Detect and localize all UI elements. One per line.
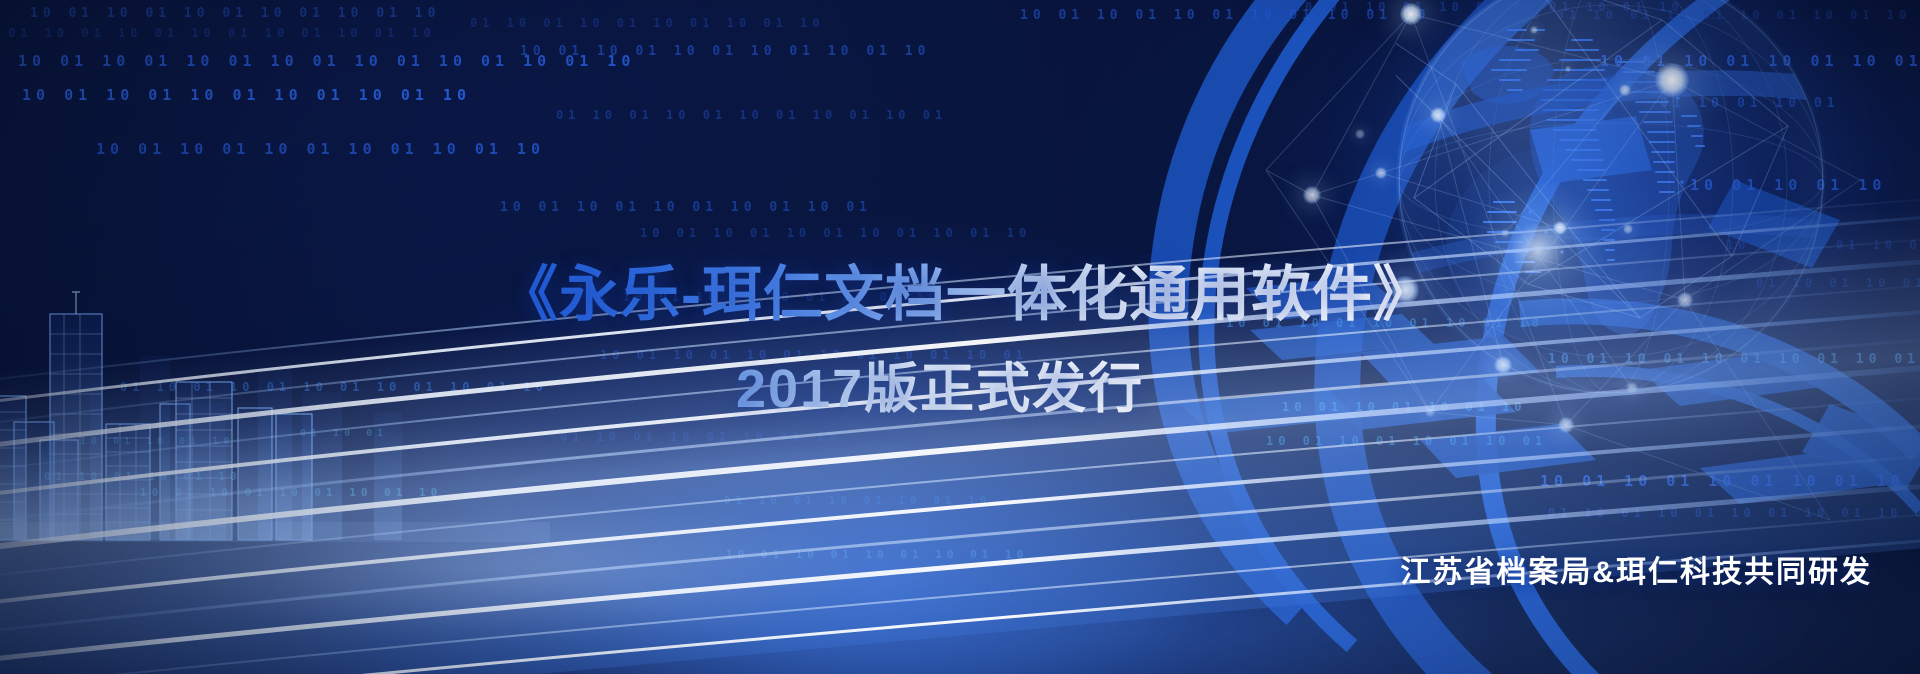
- page-title: 《永乐-珥仁文档一体化通用软件》: [498, 246, 1434, 333]
- page-subtitle: 2017版正式发行: [736, 344, 1144, 423]
- promo-banner: 10 01 10 01 10 01 10 01 10 01 1001 10 01…: [0, 0, 1920, 674]
- headline-group: 《永乐-珥仁文档一体化通用软件》 2017版正式发行 江苏省档案局&珥仁科技共同…: [0, 0, 1920, 674]
- credit-line: 江苏省档案局&珥仁科技共同研发: [1400, 547, 1872, 591]
